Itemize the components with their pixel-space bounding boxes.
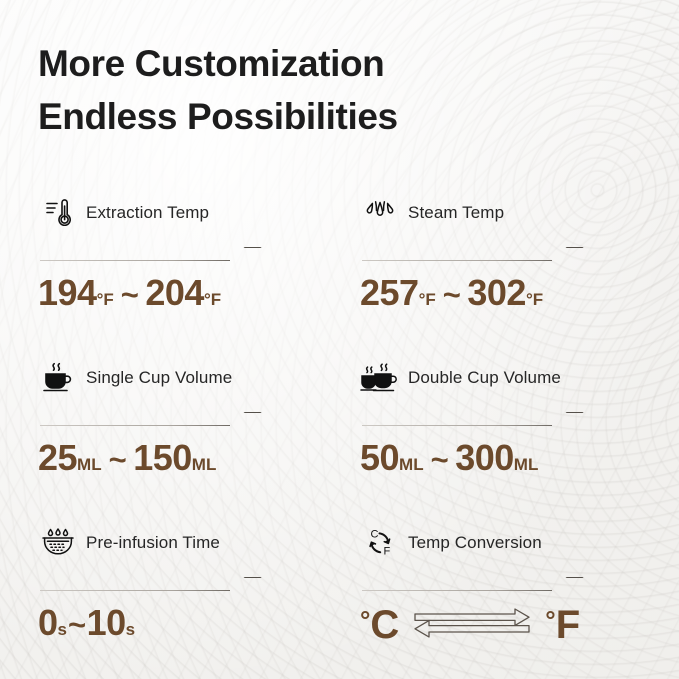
unit-celsius: C <box>370 603 399 647</box>
feature-divider <box>40 249 245 263</box>
divider-tick <box>228 412 262 426</box>
value-min: 50 <box>360 440 399 476</box>
feature-double-cup-volume: Double Cup Volume 50ML~300ML <box>360 356 649 521</box>
value-min-unit: ML <box>399 456 424 473</box>
feature-header: Single Cup Volume <box>38 356 360 400</box>
feature-single-cup-volume: Single Cup Volume 25ML~150ML <box>38 356 360 521</box>
divider-rule <box>362 590 552 591</box>
value-max: 204 <box>145 275 204 311</box>
feature-pre-infusion-time: Pre-infusion Time 0s~10s <box>38 521 360 679</box>
divider-rule <box>40 260 230 261</box>
divider-rule <box>362 425 552 426</box>
page-content: More Customization Endless Possibilities… <box>0 0 679 679</box>
feature-extraction-temp: Extraction Temp 194°F~204°F <box>38 191 360 356</box>
steam-wand-icon <box>360 193 400 233</box>
feature-value: 50ML~300ML <box>360 440 649 476</box>
feature-label: Temp Conversion <box>408 533 542 553</box>
value-min: 0 <box>38 605 58 641</box>
feature-divider <box>362 414 567 428</box>
feature-grid: Extraction Temp 194°F~204°F <box>38 191 649 679</box>
divider-rule <box>362 260 552 261</box>
feature-label: Steam Temp <box>408 203 504 223</box>
feature-label: Single Cup Volume <box>86 368 232 388</box>
value-min-unit: s <box>58 621 67 638</box>
value-max: 150 <box>133 440 192 476</box>
divider-rule <box>40 590 230 591</box>
double-cup-icon <box>360 358 400 398</box>
feature-header: Steam Temp <box>360 191 649 235</box>
feature-divider <box>40 579 245 593</box>
value-max-unit: °F <box>526 291 543 308</box>
feature-header: Extraction Temp <box>38 191 360 235</box>
thermometer-icon <box>38 193 78 233</box>
feature-temp-conversion: C F Temp Conversion °C °F <box>360 521 649 679</box>
value-min-unit: °F <box>419 291 436 308</box>
icon-text-c: C <box>371 529 379 541</box>
divider-tick <box>550 577 584 591</box>
divider-tick <box>228 247 262 261</box>
value-separator: ~ <box>121 279 139 310</box>
value-separator: ~ <box>68 609 86 640</box>
divider-rule <box>40 425 230 426</box>
feature-label: Double Cup Volume <box>408 368 561 388</box>
value-min-unit: °F <box>97 291 114 308</box>
double-headed-arrow-icon <box>413 601 531 648</box>
value-separator: ~ <box>443 279 461 310</box>
feature-divider <box>362 579 567 593</box>
value-max-unit: °F <box>204 291 221 308</box>
feature-label: Extraction Temp <box>86 203 209 223</box>
value-separator: ~ <box>431 444 449 475</box>
value-max: 10 <box>87 605 126 641</box>
single-cup-icon <box>38 358 78 398</box>
value-min: 194 <box>38 275 97 311</box>
value-max-unit: ML <box>192 456 217 473</box>
conversion-value: °C °F <box>360 601 649 648</box>
unit-fahrenheit: F <box>556 603 580 647</box>
degree-symbol-c: ° <box>360 605 370 635</box>
value-max-unit: s <box>126 621 135 638</box>
value-max-unit: ML <box>514 456 539 473</box>
feature-value: 194°F~204°F <box>38 275 360 311</box>
feature-value: 257°F~302°F <box>360 275 649 311</box>
feature-value: 25ML~150ML <box>38 440 360 476</box>
portafilter-basket-icon <box>38 523 78 563</box>
feature-divider <box>40 414 245 428</box>
divider-tick <box>228 577 262 591</box>
value-min-unit: ML <box>77 456 102 473</box>
divider-tick <box>550 412 584 426</box>
page-title-line-2: Endless Possibilities <box>38 91 649 144</box>
conversion-from: °C <box>360 605 399 645</box>
value-separator: ~ <box>109 444 127 475</box>
icon-text-f: F <box>384 546 391 558</box>
value-min: 25 <box>38 440 77 476</box>
feature-steam-temp: Steam Temp 257°F~302°F <box>360 191 649 356</box>
value-max: 302 <box>467 275 526 311</box>
celsius-fahrenheit-cycle-icon: C F <box>360 523 400 563</box>
page-title: More Customization Endless Possibilities <box>38 38 649 143</box>
feature-label: Pre-infusion Time <box>86 533 220 553</box>
feature-header: Double Cup Volume <box>360 356 649 400</box>
feature-header: Pre-infusion Time <box>38 521 360 565</box>
feature-value: 0s~10s <box>38 605 360 641</box>
degree-symbol-f: ° <box>545 605 555 635</box>
value-min: 257 <box>360 275 419 311</box>
feature-divider <box>362 249 567 263</box>
value-max: 300 <box>455 440 514 476</box>
feature-header: C F Temp Conversion <box>360 521 649 565</box>
divider-tick <box>550 247 584 261</box>
page-title-line-1: More Customization <box>38 38 649 91</box>
conversion-to: °F <box>545 605 580 645</box>
